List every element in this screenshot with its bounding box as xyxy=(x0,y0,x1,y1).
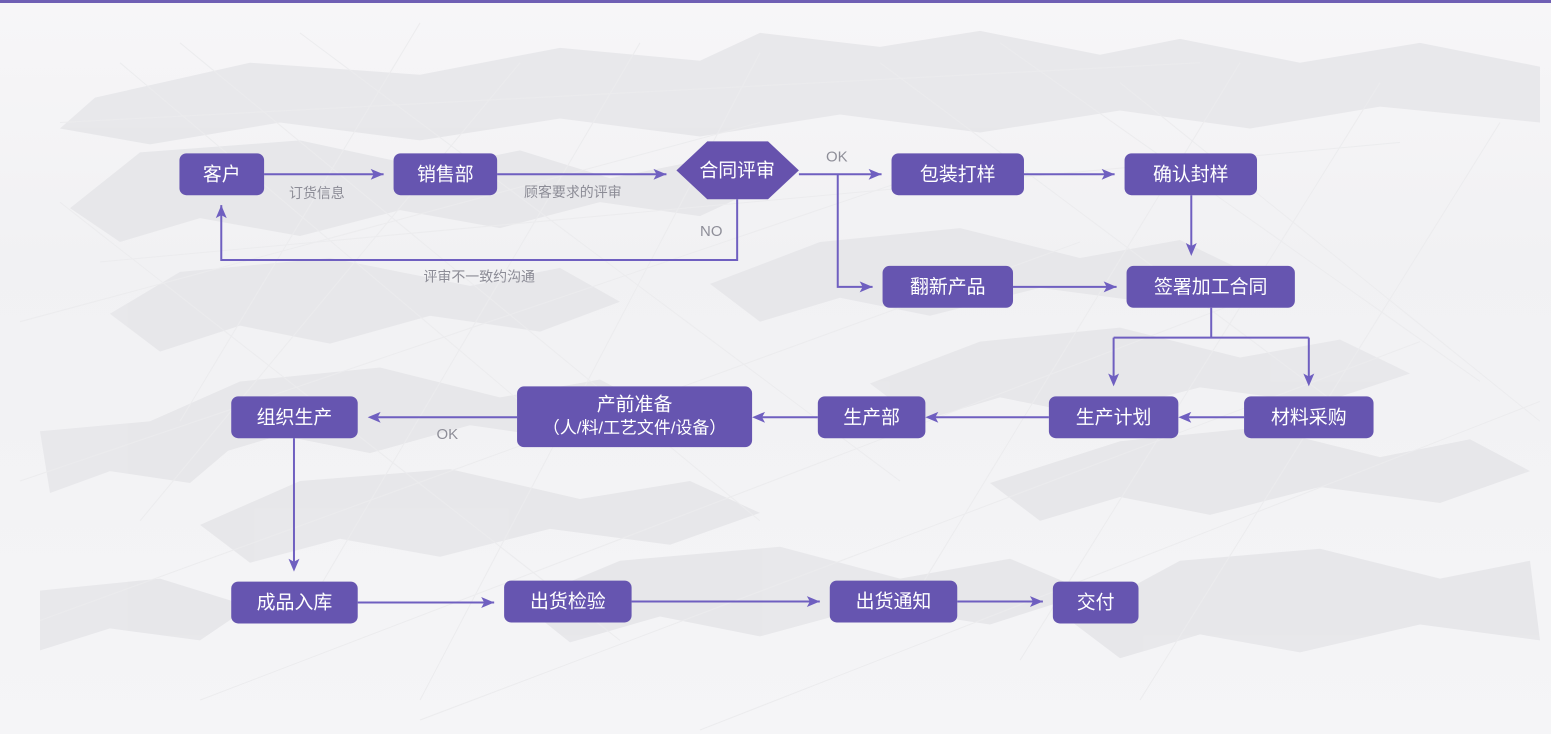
node-confirm-seal-label: 确认封样 xyxy=(1153,163,1229,185)
node-shipping-inspection[interactable]: 出货检验 xyxy=(504,581,631,623)
edge-finished-to-inspect xyxy=(358,597,494,608)
edge-confirm-to-sign xyxy=(1186,195,1197,256)
edge-package-to-confirm xyxy=(1024,169,1115,180)
edge-customer-to-sales xyxy=(264,169,384,180)
node-shipping-notice[interactable]: 出货通知 xyxy=(830,581,957,623)
edge-label-no-contract: NO xyxy=(700,223,722,240)
edge-label-review-mismatch-communication: 评审不一致约沟通 xyxy=(423,269,535,285)
edge-label-ok-contract: OK xyxy=(826,148,848,165)
node-prod-plan[interactable]: 生产计划 xyxy=(1049,396,1178,438)
edge-inspect-to-notice xyxy=(632,596,820,607)
node-refurbish[interactable]: 翻新产品 xyxy=(883,266,1013,308)
edge-label-ok-production: OK xyxy=(437,426,459,443)
node-material-purchase[interactable]: 材料采购 xyxy=(1244,396,1373,438)
node-confirm-seal[interactable]: 确认封样 xyxy=(1125,153,1257,195)
node-prod-dept[interactable]: 生产部 xyxy=(818,396,926,438)
node-material-purchase-label: 材料采购 xyxy=(1271,406,1347,428)
node-prod-plan-label: 生产计划 xyxy=(1076,406,1152,428)
edge-layer xyxy=(216,169,1314,608)
node-contract-review[interactable]: 合同评审 xyxy=(676,141,798,199)
node-layer: 客户 销售部 合同评审 包装打样 确认封样 xyxy=(179,141,1373,623)
edge-prod-dept-to-pre-prod xyxy=(752,412,818,423)
node-pre-production-label: 产前准备 xyxy=(597,393,673,415)
edge-sales-to-review xyxy=(497,169,666,180)
edge-organize-to-finished xyxy=(288,438,299,571)
edge-review-to-refurbish xyxy=(838,174,873,292)
node-sales-dept[interactable]: 销售部 xyxy=(394,153,498,195)
node-customer-label: 客户 xyxy=(203,163,241,185)
edge-label-customer-requirement-review: 顾客要求的评审 xyxy=(524,184,622,200)
edge-label-order-info: 订货信息 xyxy=(289,185,345,201)
node-pre-production[interactable]: 产前准备 （人/料/工艺文件/设备） xyxy=(517,386,752,447)
node-organize-production[interactable]: 组织生产 xyxy=(231,396,357,438)
edge-review-ok-to-package xyxy=(799,169,882,180)
edge-review-no-to-customer xyxy=(216,199,737,260)
node-package-sample-label: 包装打样 xyxy=(920,163,996,185)
node-shipping-inspection-label: 出货检验 xyxy=(530,591,606,613)
edge-notice-to-delivery xyxy=(957,596,1043,607)
edge-pre-prod-to-organize xyxy=(368,412,517,423)
node-delivery[interactable]: 交付 xyxy=(1053,582,1139,624)
node-finished-goods[interactable]: 成品入库 xyxy=(231,582,357,624)
node-pre-production-sublabel: （人/料/工艺文件/设备） xyxy=(543,419,726,438)
node-prod-dept-label: 生产部 xyxy=(843,406,900,428)
node-contract-review-label: 合同评审 xyxy=(699,159,775,181)
node-refurbish-label: 翻新产品 xyxy=(910,276,986,298)
node-customer[interactable]: 客户 xyxy=(179,153,264,195)
edge-prod-plan-to-prod-dept xyxy=(925,412,1048,423)
node-package-sample[interactable]: 包装打样 xyxy=(892,153,1024,195)
edge-refurbish-to-sign xyxy=(1013,281,1117,292)
node-delivery-label: 交付 xyxy=(1077,592,1115,614)
edge-material-to-prod-plan xyxy=(1178,412,1244,423)
node-shipping-notice-label: 出货通知 xyxy=(856,591,932,613)
node-sales-dept-label: 销售部 xyxy=(417,163,474,185)
flow-graph: 订货信息 顾客要求的评审 OK NO 评审不一致约沟通 OK 客户 销售部 合同… xyxy=(0,3,1551,734)
edge-sign-fork xyxy=(1108,308,1314,387)
node-sign-contract-label: 签署加工合同 xyxy=(1154,276,1267,298)
node-finished-goods-label: 成品入库 xyxy=(257,592,333,614)
node-sign-contract[interactable]: 签署加工合同 xyxy=(1127,266,1295,308)
flowchart-canvas: 订货信息 顾客要求的评审 OK NO 评审不一致约沟通 OK 客户 销售部 合同… xyxy=(0,0,1551,734)
node-organize-production-label: 组织生产 xyxy=(257,406,333,428)
